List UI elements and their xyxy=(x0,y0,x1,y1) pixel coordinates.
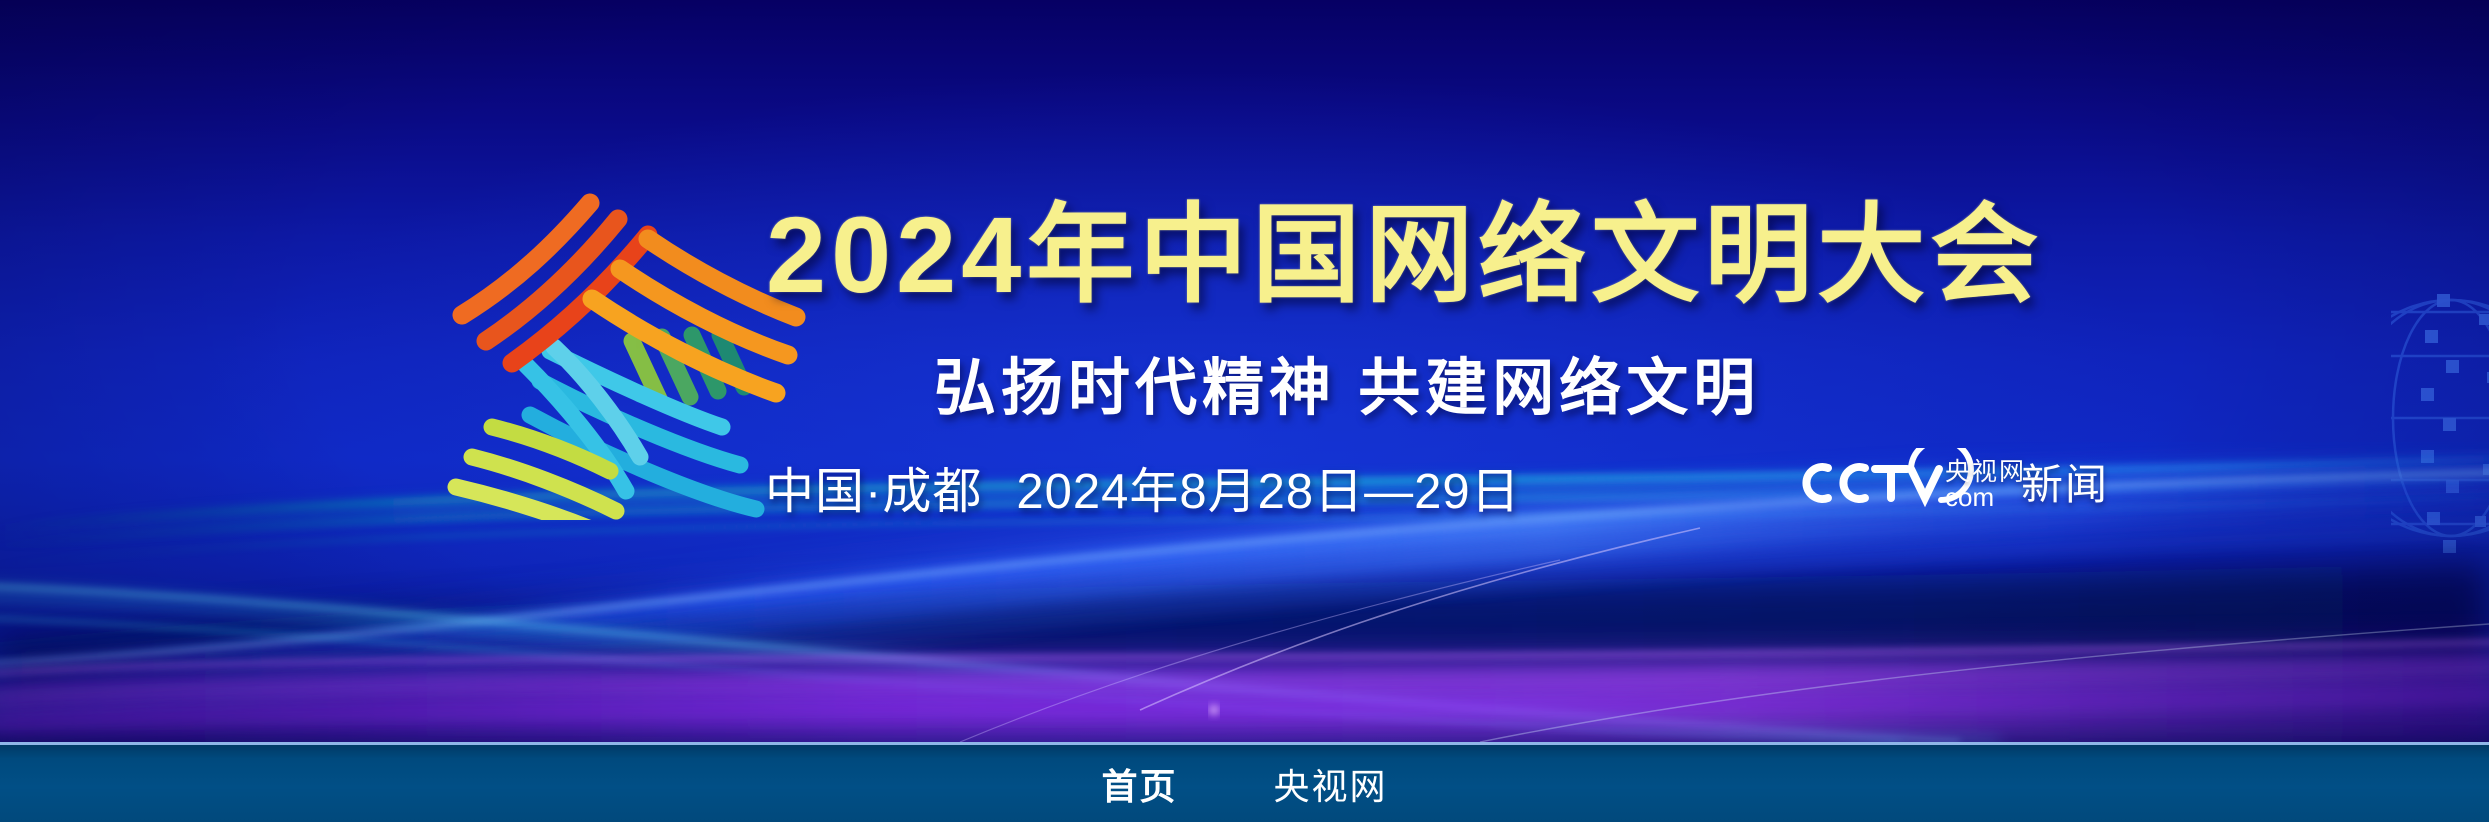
page-root: 2024年中国网络文明大会 弘扬时代精神 共建网络文明 中国·成都2024年8月… xyxy=(0,0,2489,822)
cctv-cn-label: 央视网 xyxy=(1945,452,2026,488)
cctv-logo[interactable]: com 央视网 新闻 xyxy=(1795,448,2109,514)
cctv-wordmark-icon: com 央视网 xyxy=(1795,448,2007,514)
location-and-dates: 中国·成都2024年8月28日—29日 xyxy=(765,452,1521,523)
network-globe-icon xyxy=(2391,268,2489,568)
page-title: 2024年中国网络文明大会 xyxy=(766,168,2043,324)
bottom-navigation-bar: 首页 央视网 xyxy=(0,742,2489,822)
conference-banner: 2024年中国网络文明大会 弘扬时代精神 共建网络文明 中国·成都2024年8月… xyxy=(0,0,2489,742)
cctv-channel-label: 新闻 xyxy=(2021,451,2109,512)
conference-slogan: 弘扬时代精神 共建网络文明 xyxy=(934,337,1760,427)
conference-emblem-icon xyxy=(404,165,824,520)
dates-text: 2024年8月28日—29日 xyxy=(1016,465,1520,519)
nav-item-cctv[interactable]: 央视网 xyxy=(1268,754,1394,814)
nav-item-home[interactable]: 首页 xyxy=(1095,754,1183,814)
location-text: 中国·成都 xyxy=(765,465,982,519)
nav-item-list: 首页 央视网 xyxy=(1095,754,1393,814)
